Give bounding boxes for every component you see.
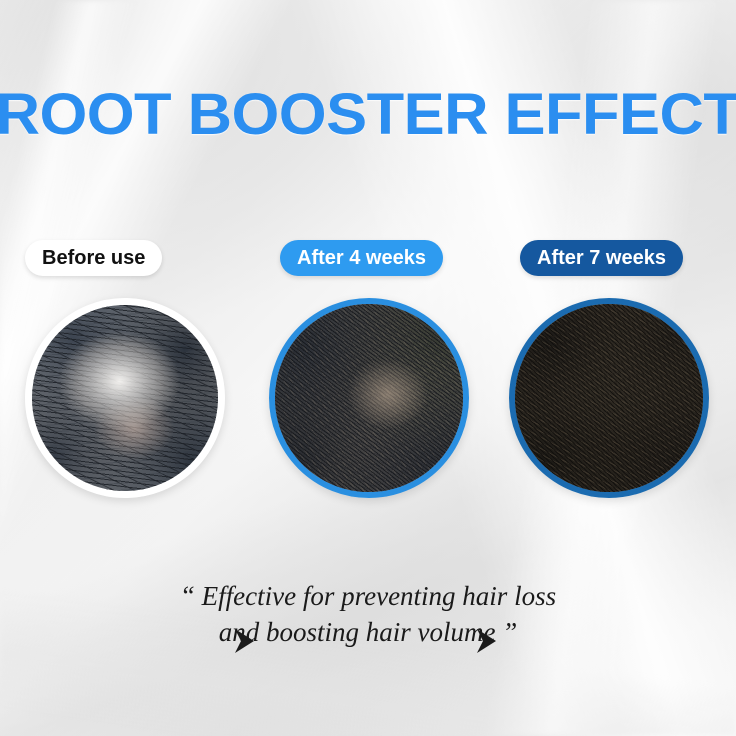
stage-after-4-weeks[interactable]: After 4 weeks <box>266 240 472 530</box>
scalp-photo-after-7-weeks <box>509 298 709 498</box>
scalp-photo-after-4-weeks <box>269 298 469 498</box>
scalp-texture-before <box>32 305 218 491</box>
caption-line-2: and boosting hair volume ” <box>0 614 736 650</box>
stage-label-after-7-weeks: After 7 weeks <box>520 240 683 276</box>
caption-line-1: “ Effective for preventing hair loss <box>0 578 736 614</box>
caption-quote: “ Effective for preventing hair loss and… <box>0 578 736 651</box>
stage-label-before-use: Before use <box>25 240 162 276</box>
scalp-photo-before-use <box>25 298 225 498</box>
stage-label-after-4-weeks: After 4 weeks <box>280 240 443 276</box>
scalp-texture-week4 <box>275 304 463 492</box>
page-title: ROOT BOOSTER EFFECT <box>0 86 736 144</box>
before-after-stages: Before use After 4 weeks After 7 weeks <box>0 240 736 530</box>
stage-after-7-weeks[interactable]: After 7 weeks <box>506 240 712 530</box>
stage-before-use[interactable]: Before use <box>22 240 228 530</box>
poster-canvas: ROOT BOOSTER EFFECT Before use After 4 w… <box>0 0 736 736</box>
scalp-texture-week7 <box>515 304 703 492</box>
